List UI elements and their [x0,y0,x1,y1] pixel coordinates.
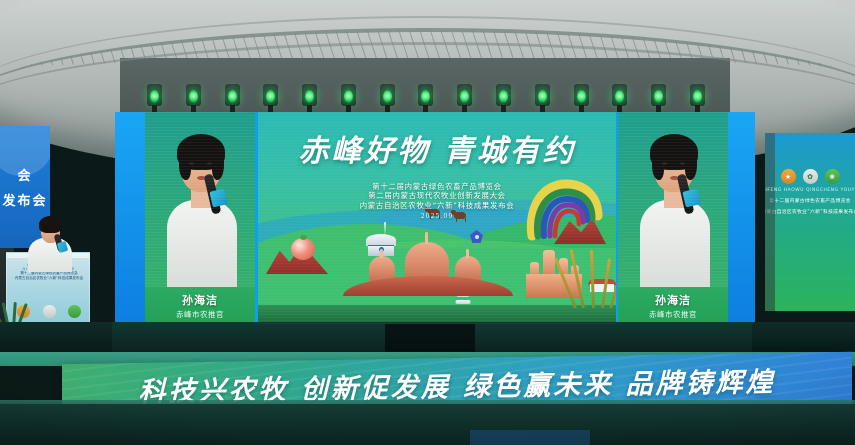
tomato-icon [291,238,315,260]
green-stage-light [689,84,706,114]
led-subtitle-1: 第十二届内蒙古绿色农畜产品博览会 [258,182,616,191]
left-speaker-name: 孙海洁 [182,292,218,308]
logo-icon-3: ❀ [825,169,840,184]
green-stage-light [379,84,396,114]
main-led-wall: 孙海洁 赤峰市农推官 [115,112,755,324]
right-caption: 孙海洁 赤峰市农推官 [618,287,728,324]
led-subtitle-2: 第二届内蒙古现代农牧业创新发展大会 [258,191,616,200]
green-stage-light [185,84,202,114]
floor-reflection [470,430,590,445]
green-stage-light [224,84,241,114]
green-stage-light [262,84,279,114]
right-side-line2: 内蒙古自治区农牧业“六新”科技成果发布会 [765,208,855,215]
right-side-logos: ★ ✿ ❀ [781,169,840,184]
decorative-plant [0,276,24,328]
right-side-screen: ★ ✿ ❀ CHIFENG HAOWU QINGCHENG YOUYUE 第十二… [765,133,855,311]
wall-pillar [765,133,775,311]
green-stage-light [301,84,318,114]
led-subtitles: 第十二届内蒙古绿色农畜产品博览会 第二届内蒙古现代农牧业创新发展大会 内蒙古自治… [258,182,616,222]
screen-glare [0,126,50,176]
podium-logo-icon-2 [43,305,56,318]
green-stage-light [456,84,473,114]
green-stage-light [650,84,667,114]
green-stage-light [573,84,590,114]
podium-speaker [24,218,76,266]
green-stage-light [146,84,163,114]
hall-floor [0,404,855,445]
logo-icon-2: ✿ [803,169,818,184]
left-portrait [145,112,255,287]
left-speaker-role: 赤峰市农推官 [176,309,224,320]
blue-flower-icon [470,230,483,243]
right-speaker-name: 孙海洁 [655,292,691,308]
led-main-title: 赤峰好物 青城有约 [258,126,616,170]
podium-logo-icon-3 [68,305,81,318]
led-date: 2025.09 [258,212,616,221]
green-stage-light [534,84,551,114]
stage-scene: 孙海洁 赤峰市农推官 [0,0,855,445]
center-led-panel: 赤峰好物 青城有约 第十二届内蒙古绿色农畜产品博览会 第二届内蒙古现代农牧业创新… [258,112,616,324]
left-side-line2: 发布会 [2,190,47,209]
logo-icon-1: ★ [781,169,796,184]
left-caption: 孙海洁 赤峰市农推官 [145,287,255,324]
green-stage-light [495,84,512,114]
green-stage-light [340,84,357,114]
green-stage-light [611,84,628,114]
led-subtitle-3: 内蒙古自治区农牧业“六新”科技成果发布会 [258,201,616,210]
right-side-line1: 第十二届内蒙古绿色农畜产品博览会 [769,197,851,204]
wheat-stalk-icon [568,246,616,308]
right-portrait [618,112,728,287]
right-speaker-role: 赤峰市农推官 [649,309,697,320]
domed-building-icon [343,244,513,296]
right-speaker-panel: 孙海洁 赤峰市农推官 [618,112,728,324]
green-stage-light [417,84,434,114]
left-speaker-panel: 孙海洁 赤峰市农推官 [145,112,255,324]
right-side-pinyin: CHIFENG HAOWU QINGCHENG YOUYUE [765,188,855,193]
